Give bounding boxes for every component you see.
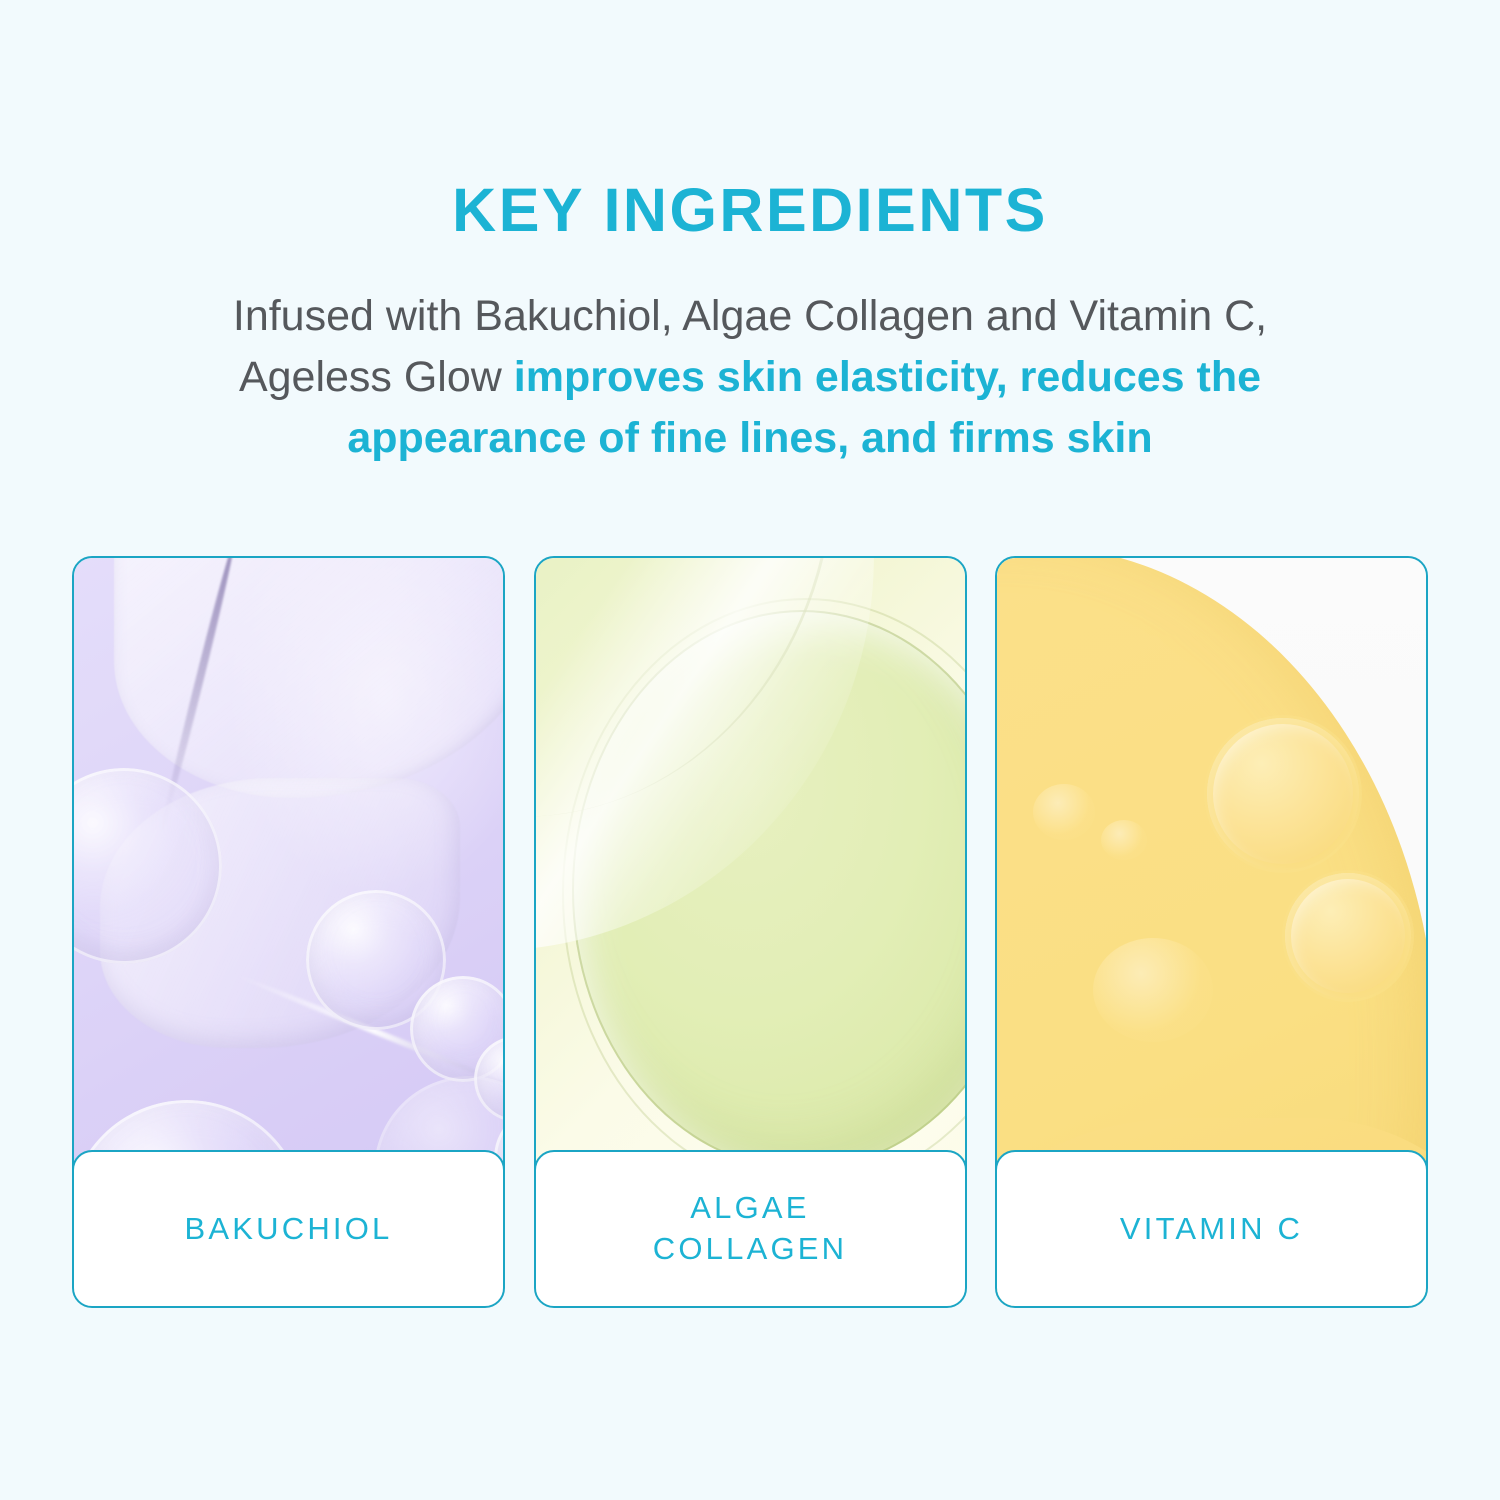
oil-bubble <box>1207 718 1359 870</box>
oil-spot <box>1033 784 1095 840</box>
subhead-line-one: Infused with Bakuchiol, Algae Collagen a… <box>233 292 1267 340</box>
oil-spot <box>1093 938 1213 1042</box>
ingredient-card-row: BAKUCHIOL ALGAE COLLAGEN <box>72 556 1428 1308</box>
oil-spot <box>1101 820 1147 860</box>
header: KEY INGREDIENTS <box>0 178 1500 242</box>
ingredient-label-plate: ALGAE COLLAGEN <box>534 1150 967 1308</box>
ingredient-label: ALGAE COLLAGEN <box>653 1188 847 1270</box>
oil-bubble <box>1285 873 1411 999</box>
subhead-product-name: Ageless Glow <box>239 353 514 401</box>
key-ingredients-infographic: KEY INGREDIENTS Infused with Bakuchiol, … <box>0 0 1500 1500</box>
ingredient-card-bakuchiol[interactable]: BAKUCHIOL <box>72 556 505 1308</box>
lavender-flow-shape <box>114 558 503 798</box>
ingredient-label-plate: BAKUCHIOL <box>72 1150 505 1308</box>
subhead-paragraph: Infused with Bakuchiol, Algae Collagen a… <box>130 286 1370 469</box>
ingredient-label: VITAMIN C <box>1120 1209 1303 1250</box>
ingredient-label-plate: VITAMIN C <box>995 1150 1428 1308</box>
ingredient-card-algae-collagen[interactable]: ALGAE COLLAGEN <box>534 556 967 1308</box>
page-title: KEY INGREDIENTS <box>0 178 1500 242</box>
ingredient-card-vitamin-c[interactable]: VITAMIN C <box>995 556 1428 1308</box>
ingredient-label: BAKUCHIOL <box>185 1209 393 1250</box>
